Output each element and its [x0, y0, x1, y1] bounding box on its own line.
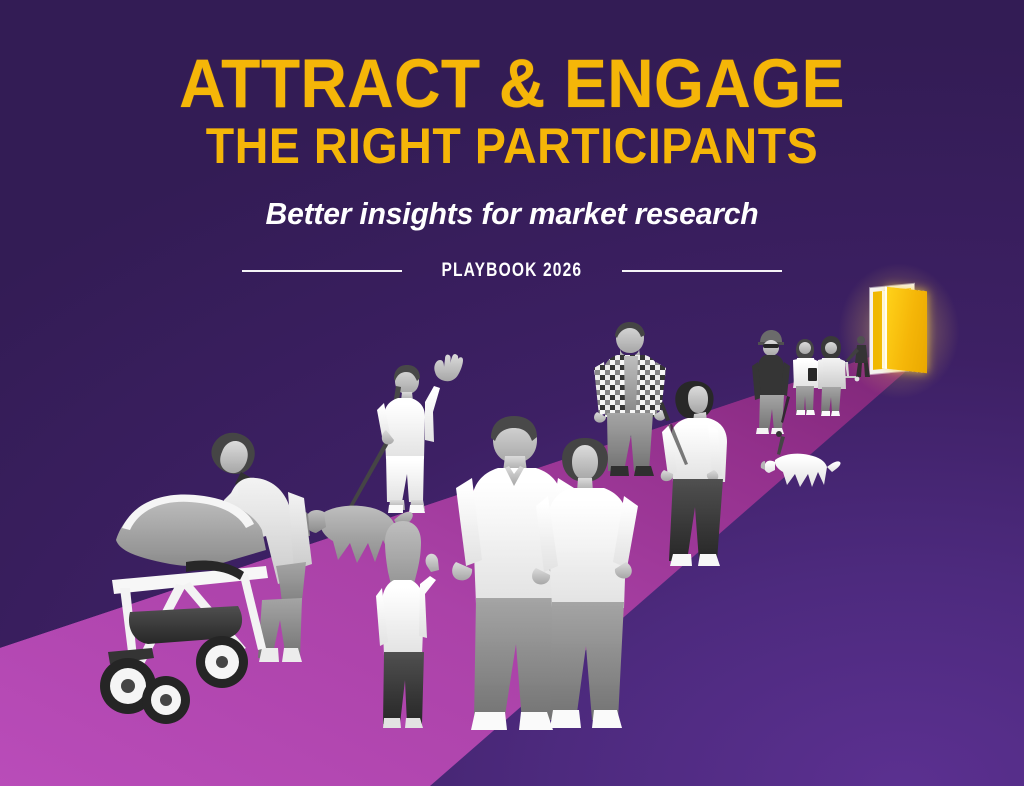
baby-stroller [100, 494, 268, 724]
page-subtitle-line: THE RIGHT PARTICIPANTS [36, 121, 988, 172]
kicker-label: PLAYBOOK 2026 [442, 260, 583, 282]
labrador-dog-on-leash [761, 431, 841, 487]
kicker-rule-left [242, 270, 402, 272]
page-title: ATTRACT & ENGAGE [36, 55, 988, 113]
playbook-cover: ATTRACT & ENGAGE THE RIGHT PARTICIPANTS … [0, 0, 1024, 786]
kicker-rule-right [622, 270, 782, 272]
cover-header: ATTRACT & ENGAGE THE RIGHT PARTICIPANTS … [0, 0, 1024, 282]
woman-with-curly-hair [660, 381, 727, 566]
tagline: Better insights for market research [15, 196, 1008, 232]
girl-with-long-hair [376, 521, 439, 728]
two-women-chatting [793, 336, 846, 416]
woman-waving-with-dog [348, 354, 463, 513]
man-with-cap-and-leash [752, 330, 790, 434]
kicker-row: PLAYBOOK 2026 [0, 260, 1024, 282]
